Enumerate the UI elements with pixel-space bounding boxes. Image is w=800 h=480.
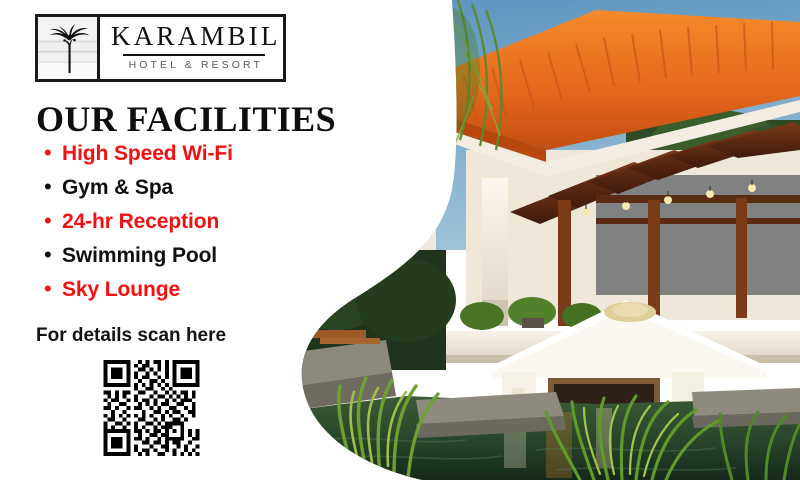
- bullet-icon: •: [44, 210, 62, 232]
- bullet-icon: •: [44, 278, 62, 300]
- brand-logo: KARAMBIL HOTEL & RESORT: [35, 14, 286, 82]
- info-panel: KARAMBIL HOTEL & RESORT OUR FACILITIES •…: [0, 0, 330, 480]
- list-item: • Swimming Pool: [44, 244, 233, 278]
- brand-divider: [123, 54, 265, 56]
- facility-label: Sky Lounge: [62, 278, 180, 302]
- palm-tree-icon: [38, 17, 100, 79]
- list-item: • High Speed Wi-Fi: [44, 142, 233, 176]
- page-title: OUR FACILITIES: [36, 98, 336, 140]
- list-item: • 24-hr Reception: [44, 210, 233, 244]
- qr-code-matrix: [103, 360, 200, 456]
- list-item: • Sky Lounge: [44, 278, 233, 312]
- qr-code-icon[interactable]: [103, 360, 200, 456]
- list-item: • Gym & Spa: [44, 176, 233, 210]
- bullet-icon: •: [44, 176, 62, 198]
- brand-name: KARAMBIL: [108, 23, 281, 50]
- facility-label: Gym & Spa: [62, 176, 173, 200]
- facility-label: High Speed Wi-Fi: [62, 142, 233, 166]
- scan-instruction: For details scan here: [36, 325, 226, 347]
- palm-tree-glyph: [43, 21, 95, 75]
- facility-label: Swimming Pool: [62, 244, 217, 268]
- bullet-icon: •: [44, 142, 62, 164]
- facilities-list: • High Speed Wi-Fi • Gym & Spa • 24-hr R…: [44, 142, 233, 312]
- brand-wordmark: KARAMBIL HOTEL & RESORT: [100, 17, 289, 79]
- facilities-poster: KARAMBIL HOTEL & RESORT OUR FACILITIES •…: [0, 0, 800, 480]
- facility-label: 24-hr Reception: [62, 210, 219, 234]
- resort-photo: [296, 0, 800, 480]
- brand-tagline: HOTEL & RESORT: [126, 60, 263, 71]
- bullet-icon: •: [44, 244, 62, 266]
- resort-photo-illustration: [296, 0, 800, 480]
